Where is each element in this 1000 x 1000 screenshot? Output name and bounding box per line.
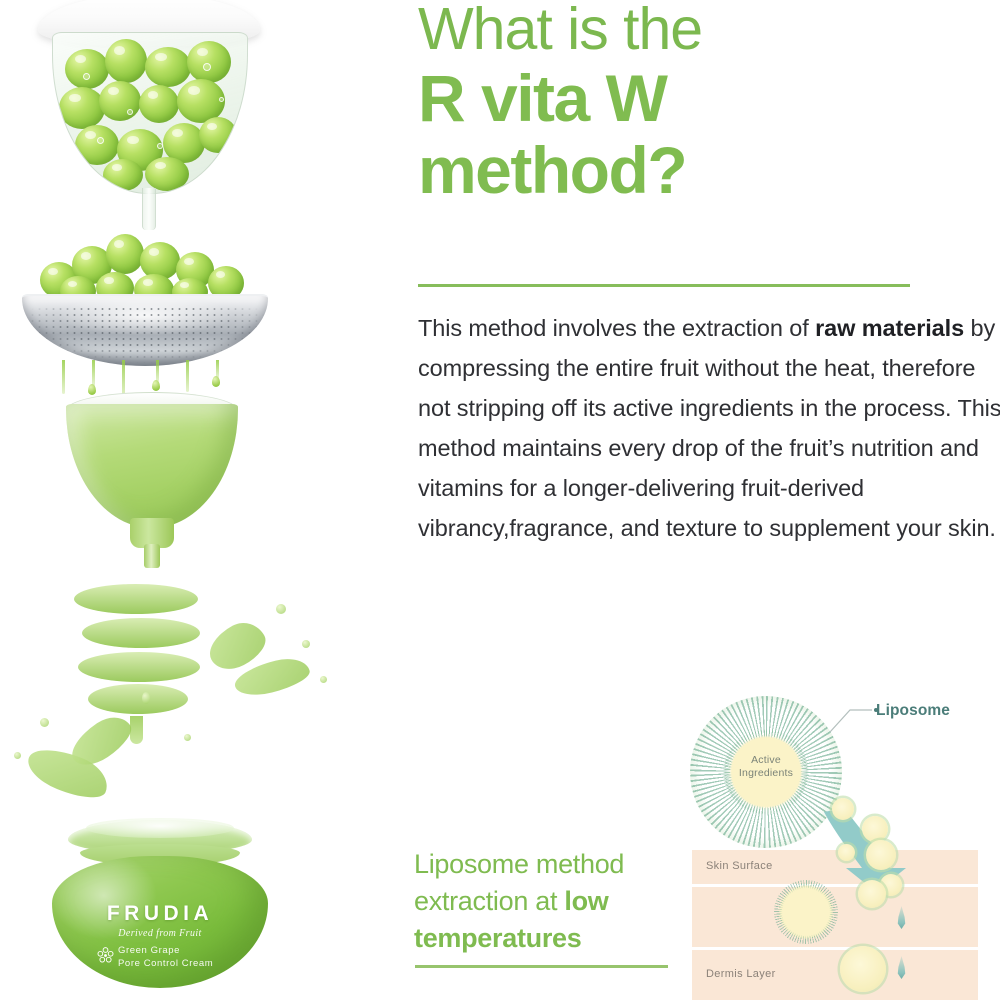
dermis-layer-label: Dermis Layer [706,968,776,980]
infographic-page: FRUDIA Derived from Fruit Green Grape Po… [0,0,1000,1000]
juice-bowl-body [66,404,238,528]
liposome-particle [866,840,896,870]
jar-product-name-line2: Pore Control Cream [118,957,248,970]
funnel-glass-bowl [52,32,248,194]
caption-line-1: Liposome method [414,846,694,883]
active-ingredients-label: Active Ingredients [690,754,842,780]
juice-bowl-stem [144,544,160,568]
vesicle-in-dermis [840,946,886,992]
title-line-1: What is the [418,0,998,62]
jar-tagline: Derived from Fruit [52,928,268,939]
jar-body: FRUDIA Derived from Fruit Green Grape Po… [52,856,268,988]
caption-line-3-bold: temperatures [414,923,581,953]
green-juice-bowl-illustration [42,392,262,582]
liposome-particle [858,880,886,908]
funnel-spout [142,188,156,230]
liposome-in-epidermis [774,880,838,944]
jar-lid-highlight [86,818,234,838]
caption-line-2: extraction at low [414,883,694,920]
grape-strainer-illustration [10,232,290,402]
liposome-particle [862,816,888,842]
process-illustration-column: FRUDIA Derived from Fruit Green Grape Po… [0,0,400,1000]
body-paragraph: This method involves the extraction of r… [418,308,1000,548]
body-text-bold: raw materials [815,315,964,341]
caption-line-2-bold: low [564,886,608,916]
active-ingredients-line1: Active [690,754,842,767]
title-line-2: R vita W [418,62,998,134]
caption-line-2-prefix: extraction at [414,886,564,916]
liposome-particle [838,844,855,861]
skin-surface-label: Skin Surface [706,860,773,872]
jar-brand-name: FRUDIA [52,902,268,926]
grape-funnel-illustration [18,0,278,240]
liposome-particle [832,798,854,820]
body-text-part2: by compressing the entire fruit without … [418,315,1000,541]
jar-product-name-line1: Green Grape [118,944,248,957]
strainer-perforations [22,306,268,363]
product-jar-illustration: FRUDIA Derived from Fruit Green Grape Po… [46,820,276,995]
jar-product-name: Green Grape Pore Control Cream [118,944,248,970]
grape-cluster-icon [96,946,115,965]
caption-line-3: temperatures [414,920,694,957]
metal-strainer [22,294,268,366]
page-title: What is the R vita W method? [418,0,998,206]
liposome-callout-label: Liposome [876,702,950,720]
body-text-part1: This method involves the extraction of [418,315,815,341]
title-divider [418,284,910,287]
active-ingredients-line2: Ingredients [690,767,842,780]
liposome-penetration-diagram: Skin Surface Dermis Layer Active Ingredi… [680,688,1000,1000]
title-line-3: method? [418,134,998,206]
liposome-caption: Liposome method extraction at low temper… [414,846,694,957]
caption-divider [415,965,668,968]
lipid-tails-small [774,880,838,944]
